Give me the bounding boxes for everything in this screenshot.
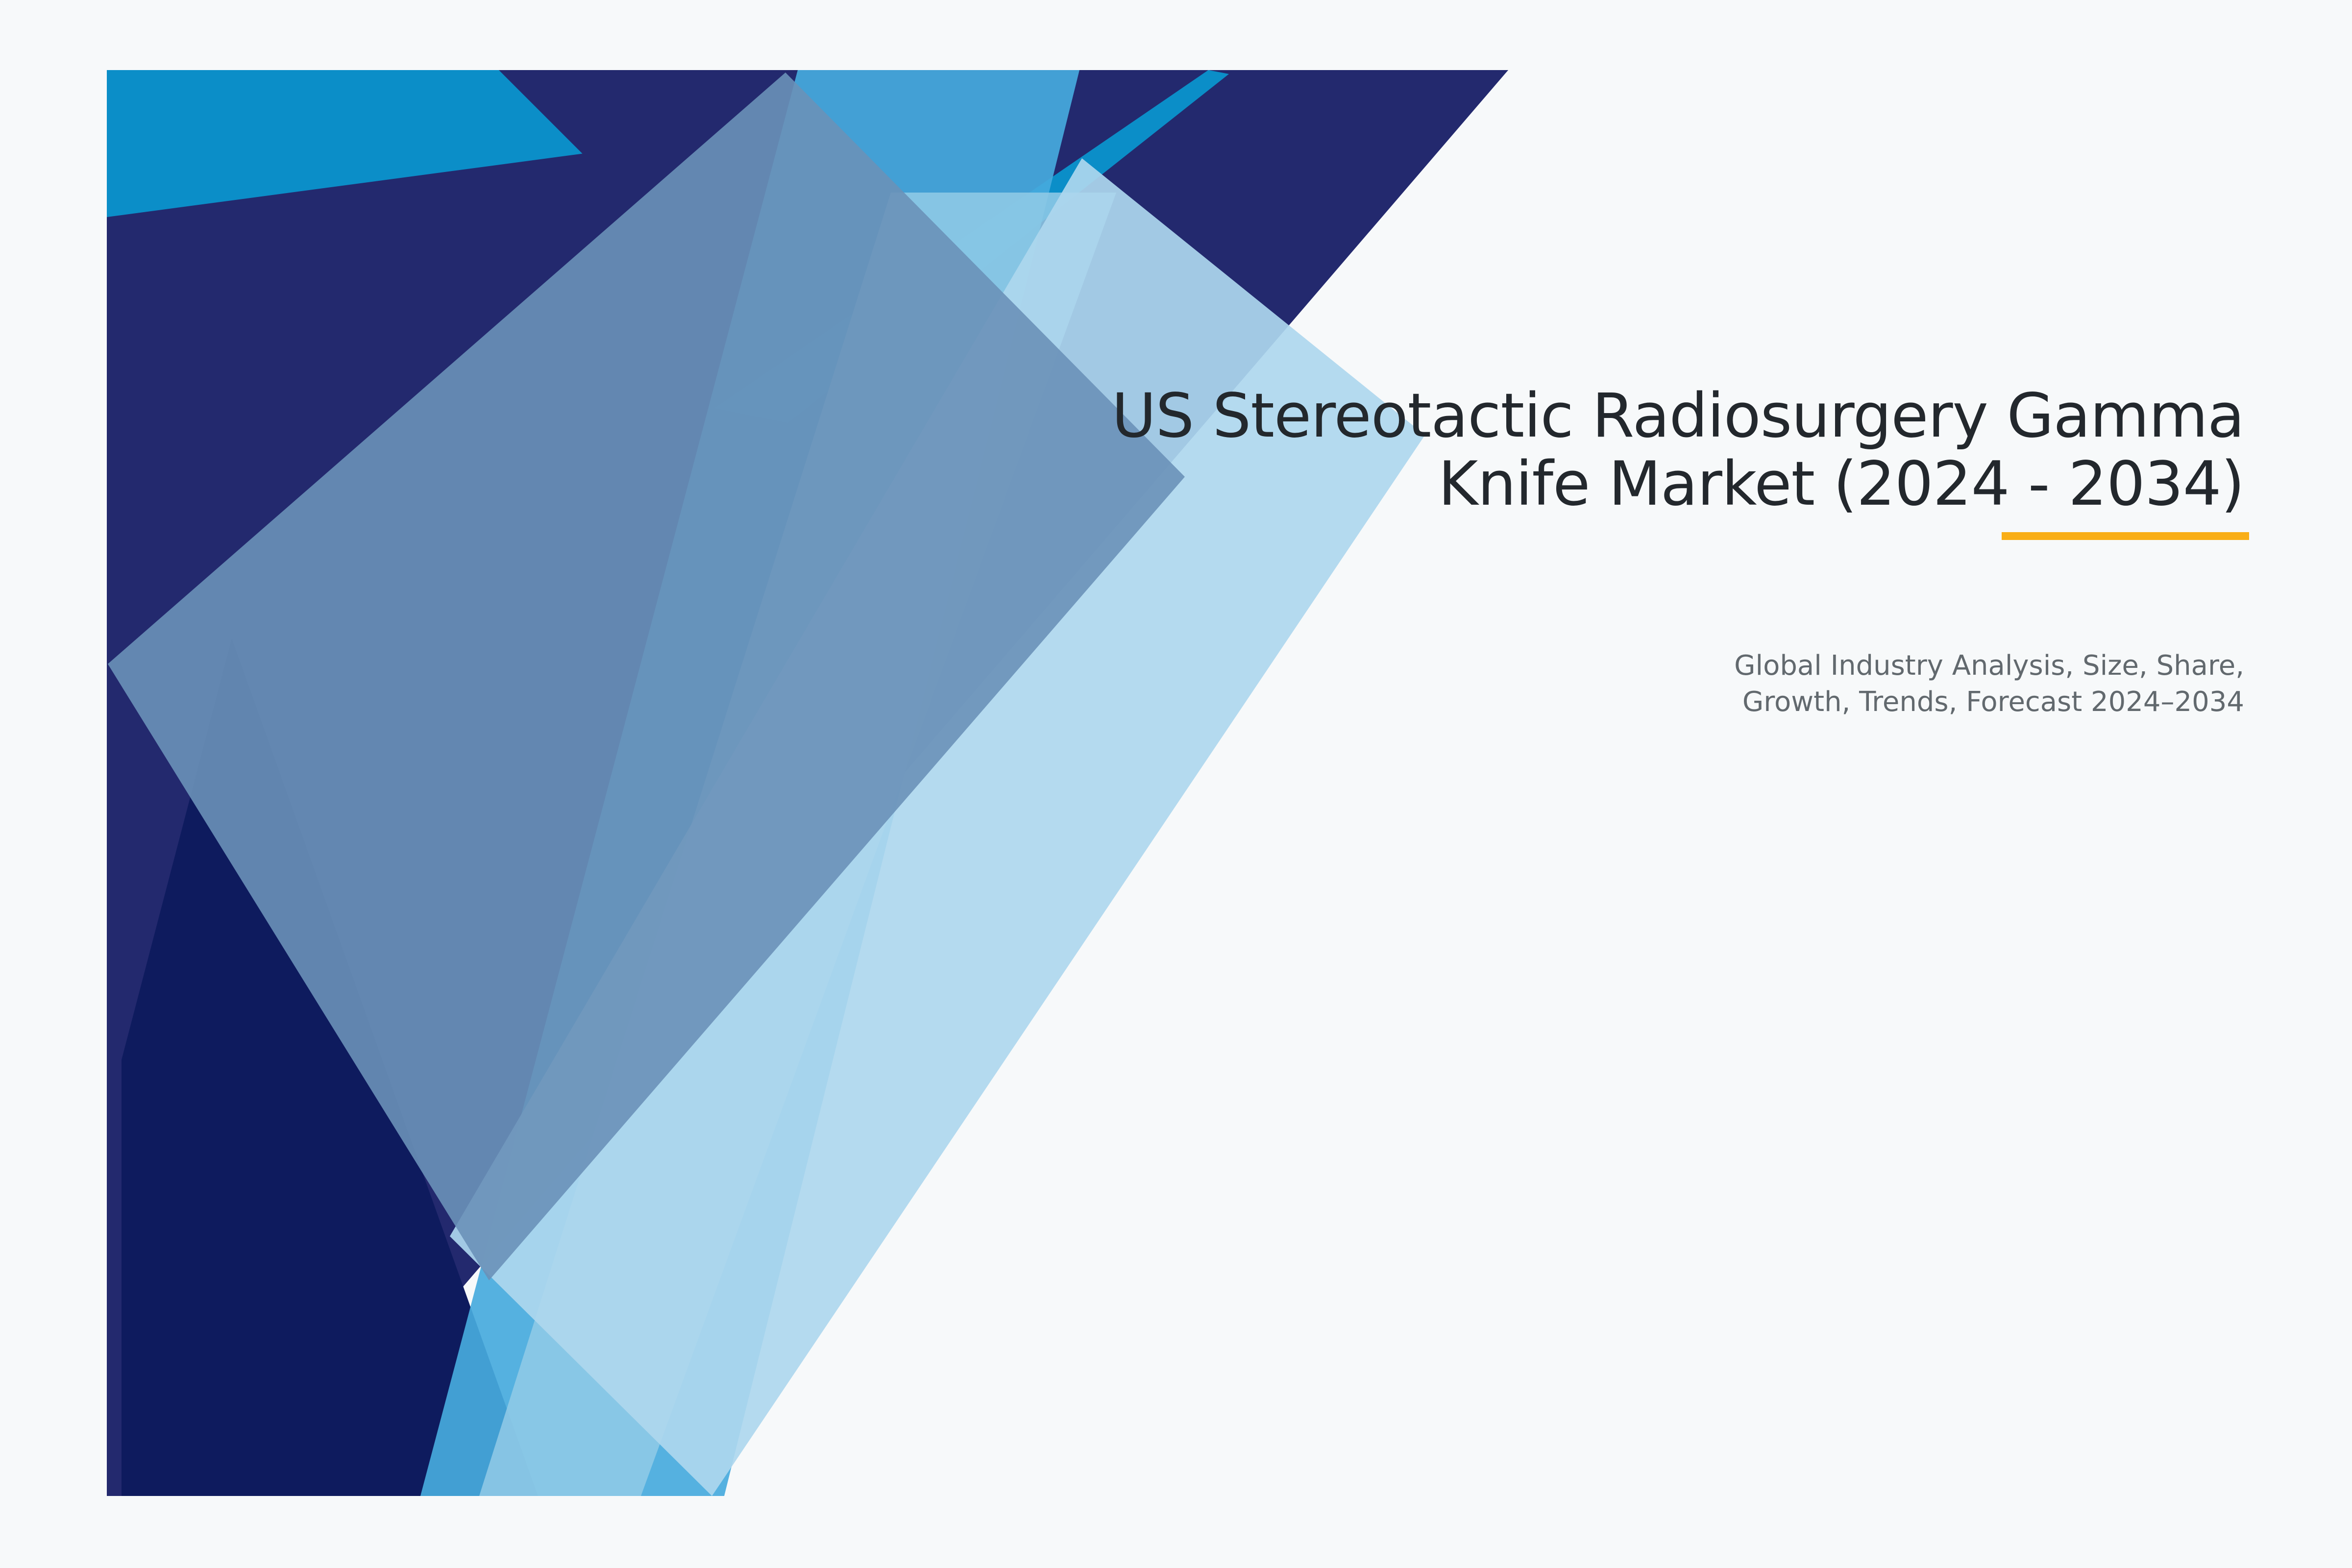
page-title: US Stereotactic Radiosurgery Gamma Knife… <box>804 382 2244 518</box>
cover-page: US Stereotactic Radiosurgery Gamma Knife… <box>0 0 2352 1568</box>
cover-artwork <box>107 70 1508 1496</box>
page-subtitle: Global Industry Analysis, Size, Share, G… <box>1441 648 2244 720</box>
title-block: US Stereotactic Radiosurgery Gamma Knife… <box>804 382 2244 518</box>
accent-underline <box>2002 532 2249 540</box>
abstract-geometric-graphic <box>107 70 1508 1496</box>
